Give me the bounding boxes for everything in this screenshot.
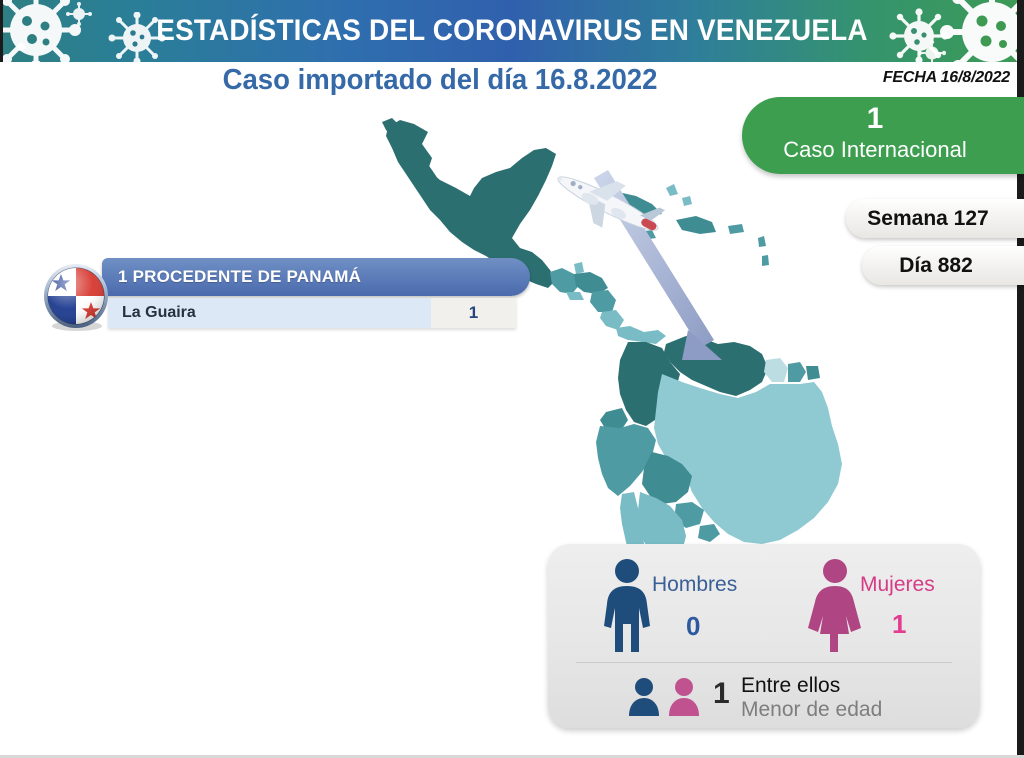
table-cell-count: 1 [431,303,516,323]
country-lesser-antilles [758,236,766,247]
minors-count: 1 [713,677,730,711]
country-el-salvador [566,292,584,300]
country-bahamas [682,196,692,206]
table-row: La Guaira 1 [108,298,516,328]
country-uruguay [698,524,720,542]
country-puerto-rico [728,224,744,234]
country-bahamas [666,184,678,196]
country-belize [574,262,584,274]
frame-left-edge [0,0,3,62]
origin-table: 1 PROCEDENTE DE PANAMÁ La Guaira 1 [40,258,490,346]
female-count: 1 [892,609,906,640]
infographic-root: ESTADÍSTICAS DEL CORONAVIRUS EN VENEZUEL… [0,0,1024,758]
stat-pill-dia: Día 882 [862,246,1024,285]
fecha-label: FECHA 16/8/2022 [883,69,1010,87]
panel-divider [576,662,952,663]
minors-line1: Entre ellos [741,674,840,698]
stat-pill-semana: Semana 127 [846,199,1024,238]
country-panama [616,326,666,344]
country-costa-rica [600,310,624,330]
female-icon [806,558,864,654]
female-label: Mujeres [860,573,935,597]
country-suriname [788,362,806,382]
country-guyana [764,358,788,382]
male-icon [600,558,654,654]
international-case-label: Caso Internacional [742,136,1008,164]
coronavirus-icon [938,0,1024,62]
country-hispaniola [676,216,716,234]
country-french-guiana [806,366,820,380]
international-case-count: 1 [742,97,1008,136]
minors-line2: Menor de edad [741,698,882,722]
coronavirus-icon [918,40,946,62]
people-pair-icon [625,676,707,723]
country-lesser-antilles [762,255,769,266]
male-count: 0 [686,611,700,642]
country-nicaragua [590,290,616,312]
table-cell-state: La Guaira [122,304,196,322]
coronavirus-icon [12,38,30,56]
page-title: ESTADÍSTICAS DEL CORONAVIRUS EN VENEZUEL… [36,0,988,62]
header-banner: ESTADÍSTICAS DEL CORONAVIRUS EN VENEZUEL… [0,0,1024,62]
international-case-card: 1 Caso Internacional [742,97,1024,174]
panama-flag-icon [40,260,112,332]
male-label: Hombres [652,573,737,597]
origin-table-header-label: 1 PROCEDENTE DE PANAMÁ [118,267,361,287]
